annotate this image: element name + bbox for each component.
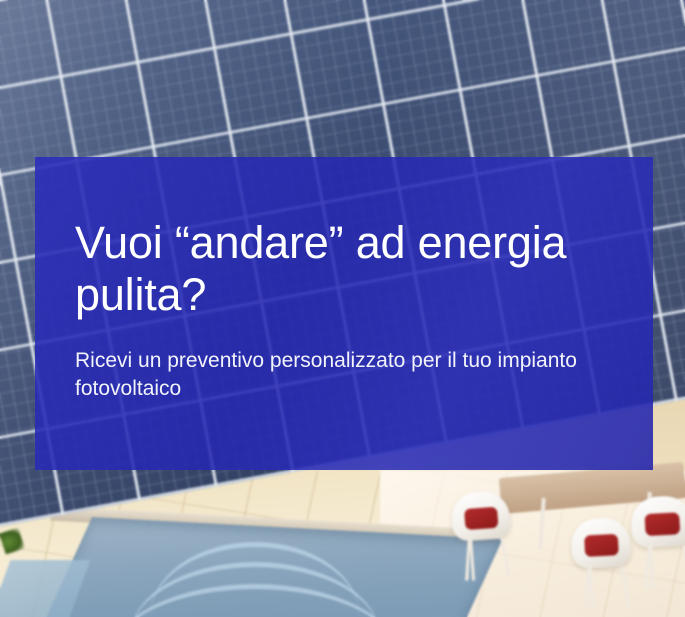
chair-cushion [645,512,681,536]
page-title: Vuoi “andare” ad energia pulita? [75,217,613,321]
hero-overlay-card: Vuoi “andare” ad energia pulita? Ricevi … [35,157,653,470]
hero-banner: Vuoi “andare” ad energia pulita? Ricevi … [0,0,685,617]
hero-subtitle: Ricevi un preventivo personalizzato per … [75,347,595,403]
chair-cushion [464,507,498,530]
chair-cushion [584,534,619,557]
